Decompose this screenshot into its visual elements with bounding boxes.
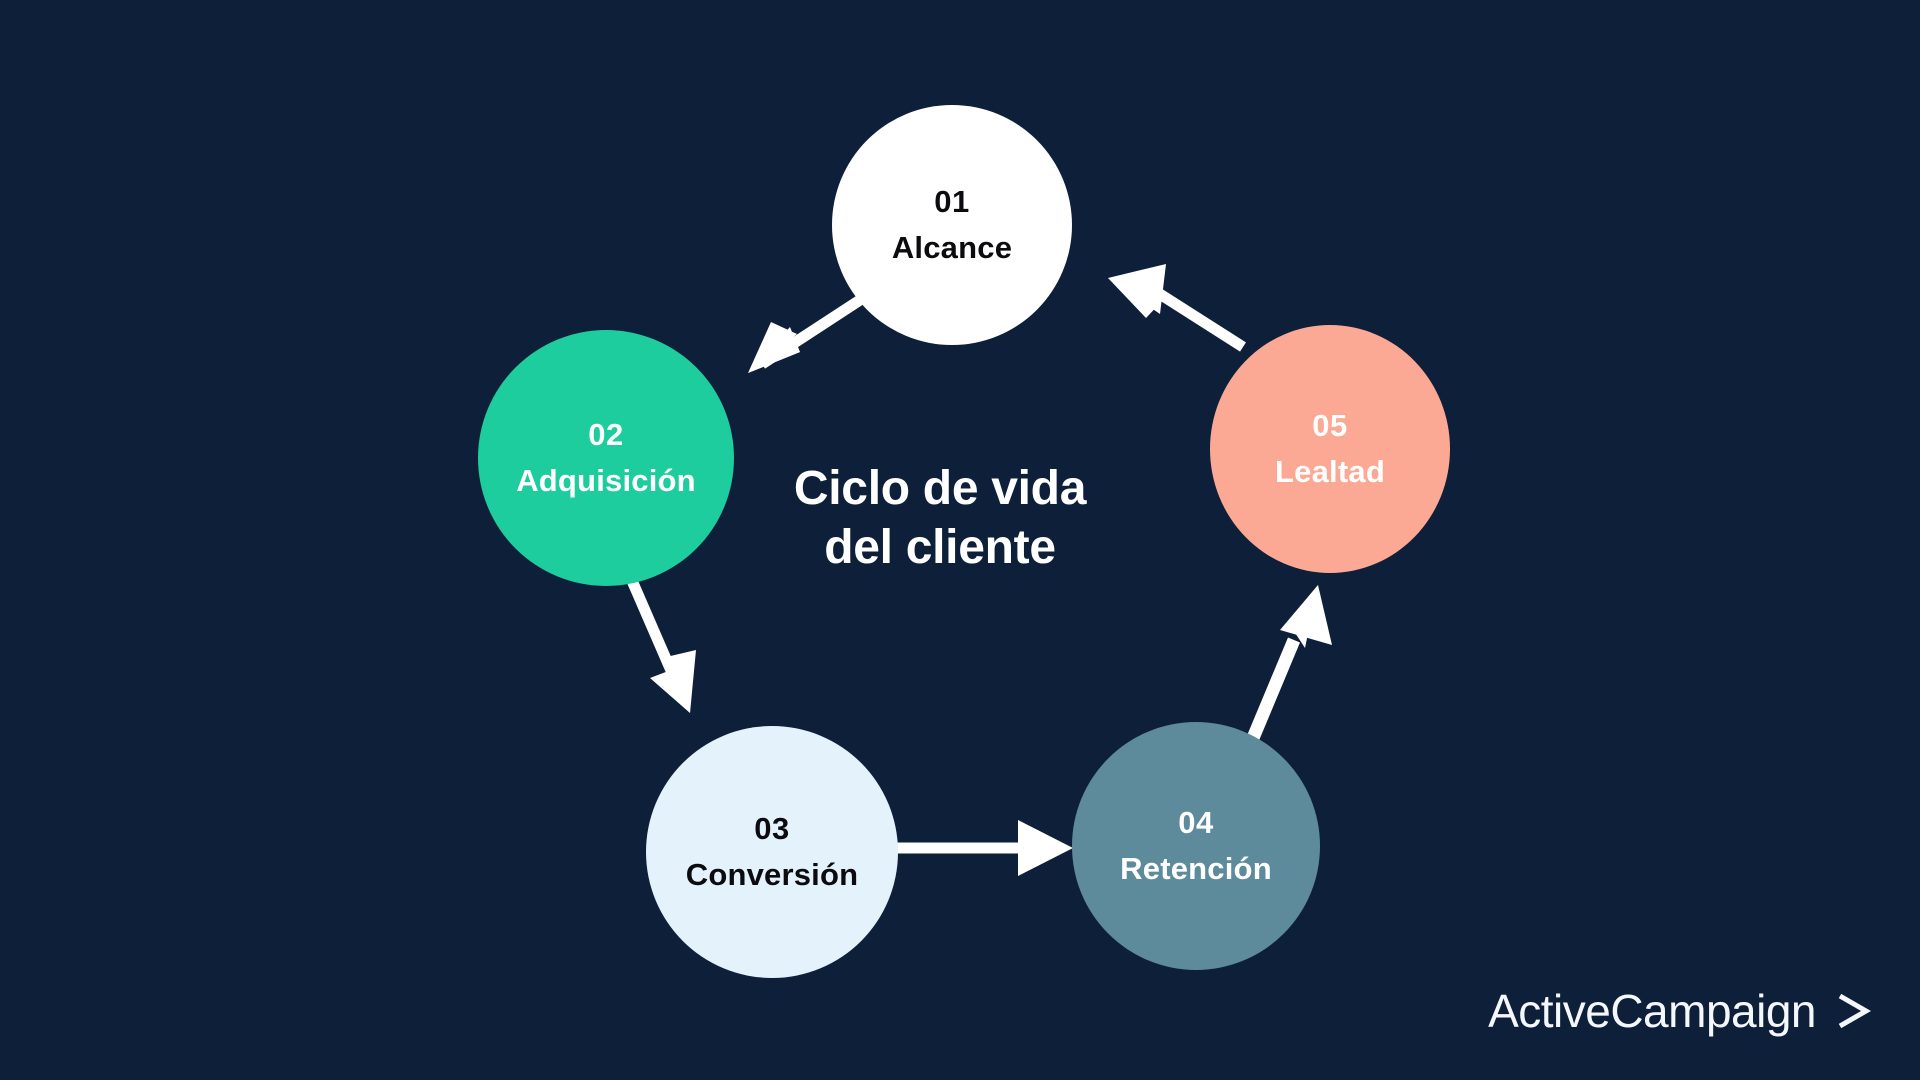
stage-node-alcance[interactable]: 01 Alcance (832, 105, 1072, 345)
arrow-05-to-01 (1108, 264, 1243, 347)
stage-node-retencion[interactable]: 04 Retención (1072, 722, 1320, 970)
stage-number: 03 (754, 812, 789, 846)
lifecycle-diagram: 01 Alcance 02 Adquisición 03 Conversión … (0, 0, 1920, 1080)
arrow-03-to-04 (896, 820, 1073, 876)
stage-label: Conversión (686, 858, 859, 892)
stage-label: Alcance (892, 231, 1012, 265)
stage-label: Retención (1120, 852, 1272, 886)
stage-number: 04 (1178, 806, 1213, 840)
chevron-right-icon (1830, 988, 1876, 1034)
arrow-04-to-05 (1248, 585, 1332, 750)
stage-node-conversion[interactable]: 03 Conversión (646, 726, 898, 978)
brand-wordmark: ActiveCampaign (1488, 988, 1816, 1034)
stage-label: Lealtad (1275, 455, 1385, 489)
stage-number: 05 (1312, 409, 1347, 443)
diagram-title-line-1: Ciclo de vida (720, 460, 1160, 519)
stage-node-lealtad[interactable]: 05 Lealtad (1210, 325, 1450, 573)
activecampaign-logo: ActiveCampaign (1488, 988, 1876, 1034)
diagram-title: Ciclo de vida del cliente (720, 460, 1160, 577)
stage-label: Adquisición (516, 464, 696, 498)
diagram-title-line-2: del cliente (720, 519, 1160, 578)
stage-node-adquisicion[interactable]: 02 Adquisición (478, 330, 734, 586)
arrow-01-to-02 (748, 300, 860, 373)
arrow-02-to-03 (630, 576, 696, 713)
stage-number: 01 (934, 185, 969, 219)
stage-number: 02 (588, 418, 623, 452)
